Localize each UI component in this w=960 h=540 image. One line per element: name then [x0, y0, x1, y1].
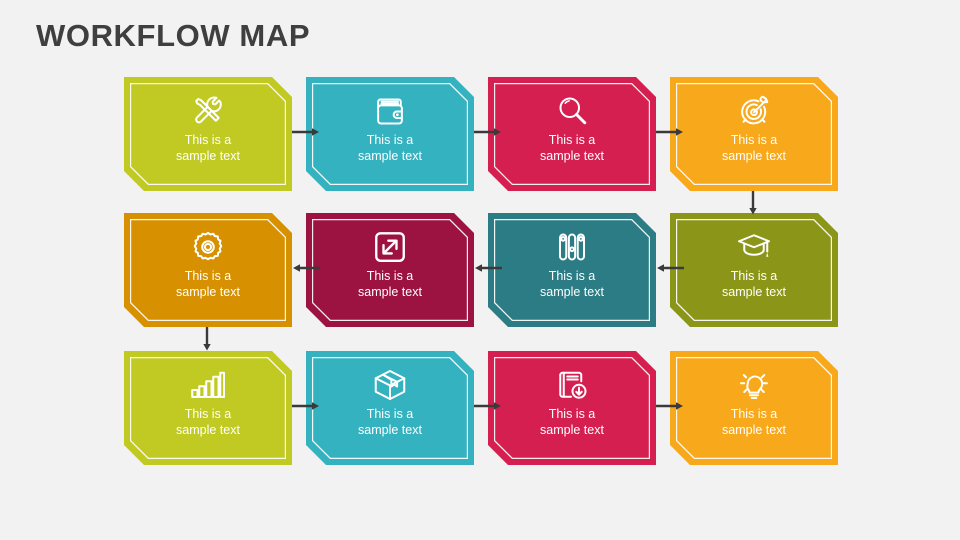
wallet-icon: [370, 91, 410, 131]
card-label: This is a sample text: [176, 133, 240, 164]
card-content: This is a sample text: [124, 351, 292, 465]
arrow-right-9-10: [292, 401, 320, 411]
workflow-card-12[interactable]: This is a sample text: [670, 351, 838, 465]
workflow-card-4[interactable]: This is a sample text: [670, 77, 838, 191]
workflow-card-9[interactable]: This is a sample text: [124, 351, 292, 465]
card-label: This is a sample text: [540, 133, 604, 164]
workflow-card-10[interactable]: This is a sample text: [306, 351, 474, 465]
archive-download-icon: [552, 365, 592, 405]
target-icon: [734, 91, 774, 131]
card-label: This is a sample text: [358, 133, 422, 164]
arrow-right-2-3: [474, 127, 502, 137]
card-content: This is a sample text: [670, 213, 838, 327]
card-content: This is a sample text: [488, 213, 656, 327]
card-label: This is a sample text: [540, 407, 604, 438]
arrow-down-8-9: [202, 327, 212, 351]
card-label: This is a sample text: [176, 269, 240, 300]
card-content: This is a sample text: [670, 77, 838, 191]
expand-icon: [370, 227, 410, 267]
workflow-board: This is a sample text This is a sample t…: [0, 0, 960, 540]
tools-icon: [188, 91, 228, 131]
card-label: This is a sample text: [176, 407, 240, 438]
card-label: This is a sample text: [722, 133, 786, 164]
lightbulb-icon: [734, 365, 774, 405]
arrow-right-1-2: [292, 127, 320, 137]
card-label: This is a sample text: [722, 407, 786, 438]
workflow-card-7[interactable]: This is a sample text: [306, 213, 474, 327]
card-content: This is a sample text: [488, 351, 656, 465]
card-content: This is a sample text: [670, 351, 838, 465]
card-content: This is a sample text: [306, 213, 474, 327]
card-content: This is a sample text: [306, 77, 474, 191]
arrow-down-4-5: [748, 191, 758, 215]
arrow-right-10-11: [474, 401, 502, 411]
workflow-card-8[interactable]: This is a sample text: [124, 213, 292, 327]
card-content: This is a sample text: [124, 77, 292, 191]
magnifier-icon: [552, 91, 592, 131]
workflow-card-11[interactable]: This is a sample text: [488, 351, 656, 465]
card-content: This is a sample text: [124, 213, 292, 327]
gear-icon: [188, 227, 228, 267]
workflow-card-1[interactable]: This is a sample text: [124, 77, 292, 191]
arrow-left-5-6: [656, 263, 684, 273]
sliders-icon: [552, 227, 592, 267]
card-label: This is a sample text: [358, 407, 422, 438]
workflow-card-5[interactable]: This is a sample text: [670, 213, 838, 327]
card-content: This is a sample text: [488, 77, 656, 191]
card-content: This is a sample text: [306, 351, 474, 465]
arrow-left-6-7: [474, 263, 502, 273]
card-label: This is a sample text: [722, 269, 786, 300]
card-label: This is a sample text: [540, 269, 604, 300]
workflow-card-2[interactable]: This is a sample text: [306, 77, 474, 191]
workflow-card-6[interactable]: This is a sample text: [488, 213, 656, 327]
arrow-right-3-4: [656, 127, 684, 137]
workflow-card-3[interactable]: This is a sample text: [488, 77, 656, 191]
graduation-cap-icon: [734, 227, 774, 267]
package-box-icon: [370, 365, 410, 405]
card-label: This is a sample text: [358, 269, 422, 300]
arrow-left-7-8: [292, 263, 320, 273]
bar-chart-icon: [188, 365, 228, 405]
arrow-right-11-12: [656, 401, 684, 411]
